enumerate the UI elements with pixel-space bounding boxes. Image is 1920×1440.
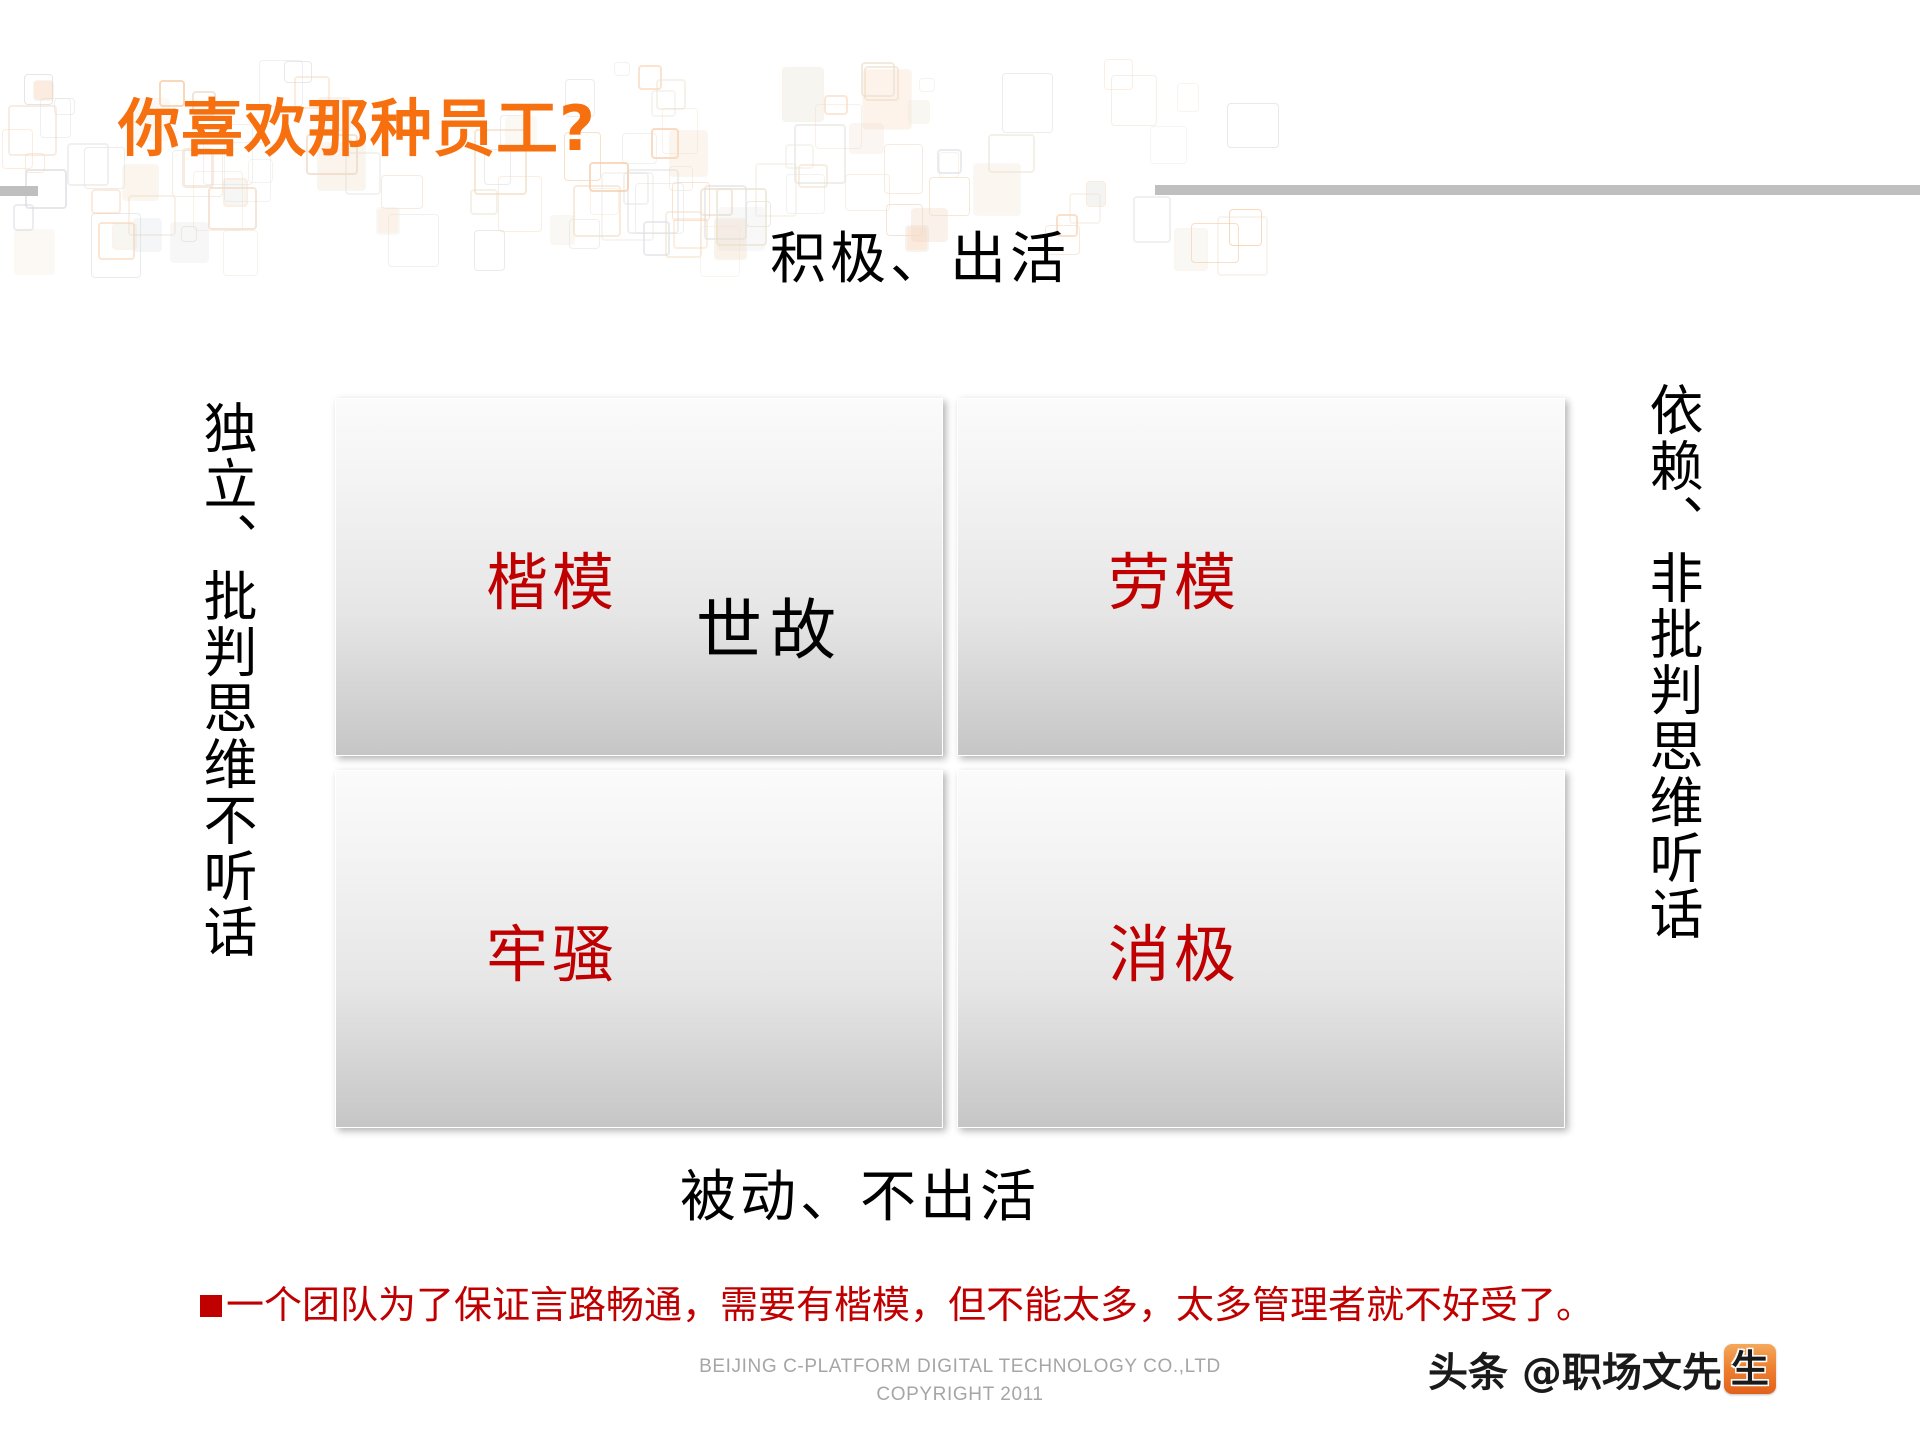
quadrant-bottom-left-label: 牢骚 bbox=[486, 904, 618, 994]
decoration-square bbox=[24, 74, 54, 106]
quadrant-bottom-right-label: 消极 bbox=[1108, 904, 1240, 994]
axis-label-right: 依赖、非批判思维听话 bbox=[1632, 382, 1702, 942]
decoration-square bbox=[824, 95, 848, 115]
decoration-square bbox=[2, 129, 34, 169]
footer-line-1: BEIJING C-PLATFORM DIGITAL TECHNOLOGY CO… bbox=[699, 1356, 1221, 1377]
quadrant-bottom-right[interactable]: 消极 bbox=[957, 770, 1565, 1128]
decoration-square bbox=[785, 144, 814, 169]
decoration-square bbox=[988, 134, 1035, 173]
decoration-square bbox=[1086, 181, 1106, 207]
decoration-square bbox=[845, 174, 890, 211]
decoration-square bbox=[651, 90, 676, 117]
decoration-square bbox=[782, 67, 824, 122]
slide-canvas: 你喜欢那种员工? 积极、出活 独立、批判思维不听话 依赖、非批判思维听话 被动、… bbox=[0, 0, 1920, 1440]
decoration-square bbox=[623, 172, 649, 206]
decoration-square bbox=[638, 65, 663, 90]
note-text: 一个团队为了保证言路畅通，需要有楷模，但不能太多，太多管理者就不好受了。 bbox=[226, 1278, 1594, 1332]
divider-stub-left bbox=[0, 186, 38, 196]
axis-label-bottom: 被动、不出活 bbox=[0, 1152, 1920, 1233]
decoration-square bbox=[1150, 126, 1187, 164]
decoration-square bbox=[54, 98, 75, 116]
decoration-square bbox=[8, 105, 56, 157]
quadrant-bottom-left[interactable]: 牢骚 bbox=[335, 770, 943, 1128]
quadrant-matrix: 楷模 劳模 牢骚 消极 bbox=[335, 398, 1565, 1128]
decoration-square bbox=[651, 128, 679, 159]
matrix-center-label: 世故 bbox=[696, 577, 844, 673]
decoration-square bbox=[223, 178, 248, 207]
decoration-square bbox=[864, 66, 899, 101]
decoration-square bbox=[622, 133, 657, 165]
decoration-square bbox=[794, 124, 846, 184]
axis-label-left: 独立、批判思维不听话 bbox=[186, 400, 256, 960]
decoration-square bbox=[937, 149, 962, 174]
decoration-square bbox=[1177, 83, 1199, 112]
decoration-square bbox=[861, 62, 895, 98]
decoration-square bbox=[614, 62, 631, 76]
decoration-square bbox=[656, 79, 686, 111]
decoration-square bbox=[669, 130, 707, 177]
decoration-square bbox=[973, 163, 1021, 217]
decoration-square bbox=[662, 108, 698, 155]
decoration-square bbox=[470, 189, 498, 216]
decoration-square bbox=[929, 177, 970, 215]
decoration-square bbox=[939, 152, 959, 178]
decoration-square bbox=[700, 188, 733, 216]
decoration-square bbox=[862, 69, 913, 130]
decoration-square bbox=[91, 189, 121, 214]
axis-label-top-text: 积极、出活 bbox=[770, 227, 1070, 292]
decoration-square bbox=[884, 144, 923, 195]
footer-line-2: COPYRIGHT 2011 bbox=[0, 1384, 1920, 1406]
decoration-square bbox=[1002, 73, 1053, 133]
decoration-square bbox=[815, 104, 862, 148]
axis-label-top: 积极、出活 bbox=[0, 214, 1920, 295]
decoration-square bbox=[381, 175, 423, 209]
header-divider bbox=[1155, 185, 1920, 195]
square-bullet-icon bbox=[200, 1295, 222, 1317]
note-bullet-row: 一个团队为了保证言路畅通，需要有楷模，但不能太多，太多管理者就不好受了。 bbox=[200, 1278, 1594, 1332]
decoration-square bbox=[1104, 59, 1133, 90]
decoration-square bbox=[1111, 75, 1157, 126]
decoration-square bbox=[122, 164, 159, 201]
quadrant-top-right-label: 劳模 bbox=[1108, 532, 1240, 622]
quadrant-top-right[interactable]: 劳模 bbox=[957, 398, 1565, 756]
footer-copyright: BEIJING C-PLATFORM DIGITAL TECHNOLOGY CO… bbox=[0, 1356, 1920, 1406]
decoration-square bbox=[25, 153, 46, 173]
quadrant-top-left-label: 楷模 bbox=[486, 532, 618, 622]
decoration-square bbox=[798, 164, 828, 188]
decoration-square bbox=[786, 174, 825, 214]
decoration-square bbox=[849, 123, 884, 154]
axis-label-bottom-text: 被动、不出活 bbox=[680, 1165, 1040, 1230]
decoration-square bbox=[40, 98, 71, 138]
page-title: 你喜欢那种员工? bbox=[118, 78, 596, 168]
decoration-square bbox=[908, 100, 930, 124]
decoration-square bbox=[590, 188, 619, 215]
decoration-square bbox=[755, 163, 797, 217]
decoration-square bbox=[669, 166, 693, 191]
decoration-square bbox=[919, 78, 936, 92]
quadrant-top-left[interactable]: 楷模 bbox=[335, 398, 943, 756]
decoration-square bbox=[1227, 103, 1279, 148]
decoration-square bbox=[67, 143, 109, 186]
decoration-square bbox=[33, 80, 54, 101]
